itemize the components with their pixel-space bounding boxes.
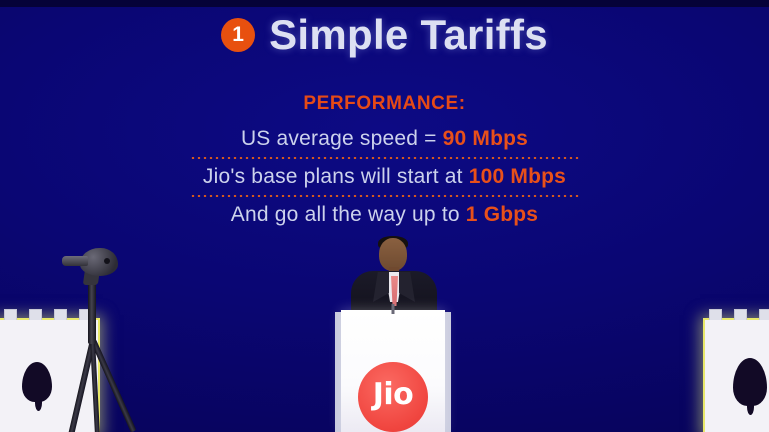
stage-panel-right xyxy=(703,318,769,432)
camera-dial xyxy=(104,258,110,264)
jio-logo-text: Jio xyxy=(373,380,414,414)
slide-line-text: US average speed = xyxy=(241,127,443,150)
section-heading: PERFORMANCE: xyxy=(0,93,769,115)
slide-line: And go all the way up to 1 Gbps xyxy=(0,199,769,232)
slide-line: Jio's base plans will start at 100 Mbps xyxy=(0,161,769,194)
slide-line-highlight: 90 Mbps xyxy=(443,127,528,150)
panel-merlon xyxy=(734,309,747,320)
slide-number-badge: 1 xyxy=(221,18,255,52)
slide-title: Simple Tariffs xyxy=(269,14,548,56)
camera-lens xyxy=(62,256,88,266)
slide-line-highlight: 1 Gbps xyxy=(466,203,538,226)
podium-microphone xyxy=(392,304,395,314)
panel-merlon xyxy=(4,309,17,320)
slide-line-text: Jio's base plans will start at xyxy=(203,165,469,188)
top-edge-band xyxy=(0,0,769,7)
dotted-divider xyxy=(190,195,580,197)
slide-line-highlight: 100 Mbps xyxy=(469,165,566,188)
slide-title-row: 1 Simple Tariffs xyxy=(0,14,769,56)
tripod-column xyxy=(88,282,96,344)
panel-merlon xyxy=(759,309,769,320)
podium: Jio xyxy=(341,310,445,432)
presentation-stage-screenshot: Jio 1 Simple Tariffs PERFORMANCE: US ave… xyxy=(0,0,769,432)
slide-line-text: And go all the way up to xyxy=(231,203,466,226)
podium-edge-right xyxy=(444,312,451,432)
slide-body-lines: US average speed = 90 Mbps Jio's base pl… xyxy=(0,123,769,232)
panel-logo-left xyxy=(22,362,52,402)
panel-logo-right xyxy=(733,358,767,406)
panel-merlon xyxy=(29,309,42,320)
slide-line: US average speed = 90 Mbps xyxy=(0,123,769,156)
panel-merlon xyxy=(709,309,722,320)
panel-merlon xyxy=(54,309,67,320)
jio-logo-icon: Jio xyxy=(358,362,428,432)
dotted-divider xyxy=(190,157,580,159)
